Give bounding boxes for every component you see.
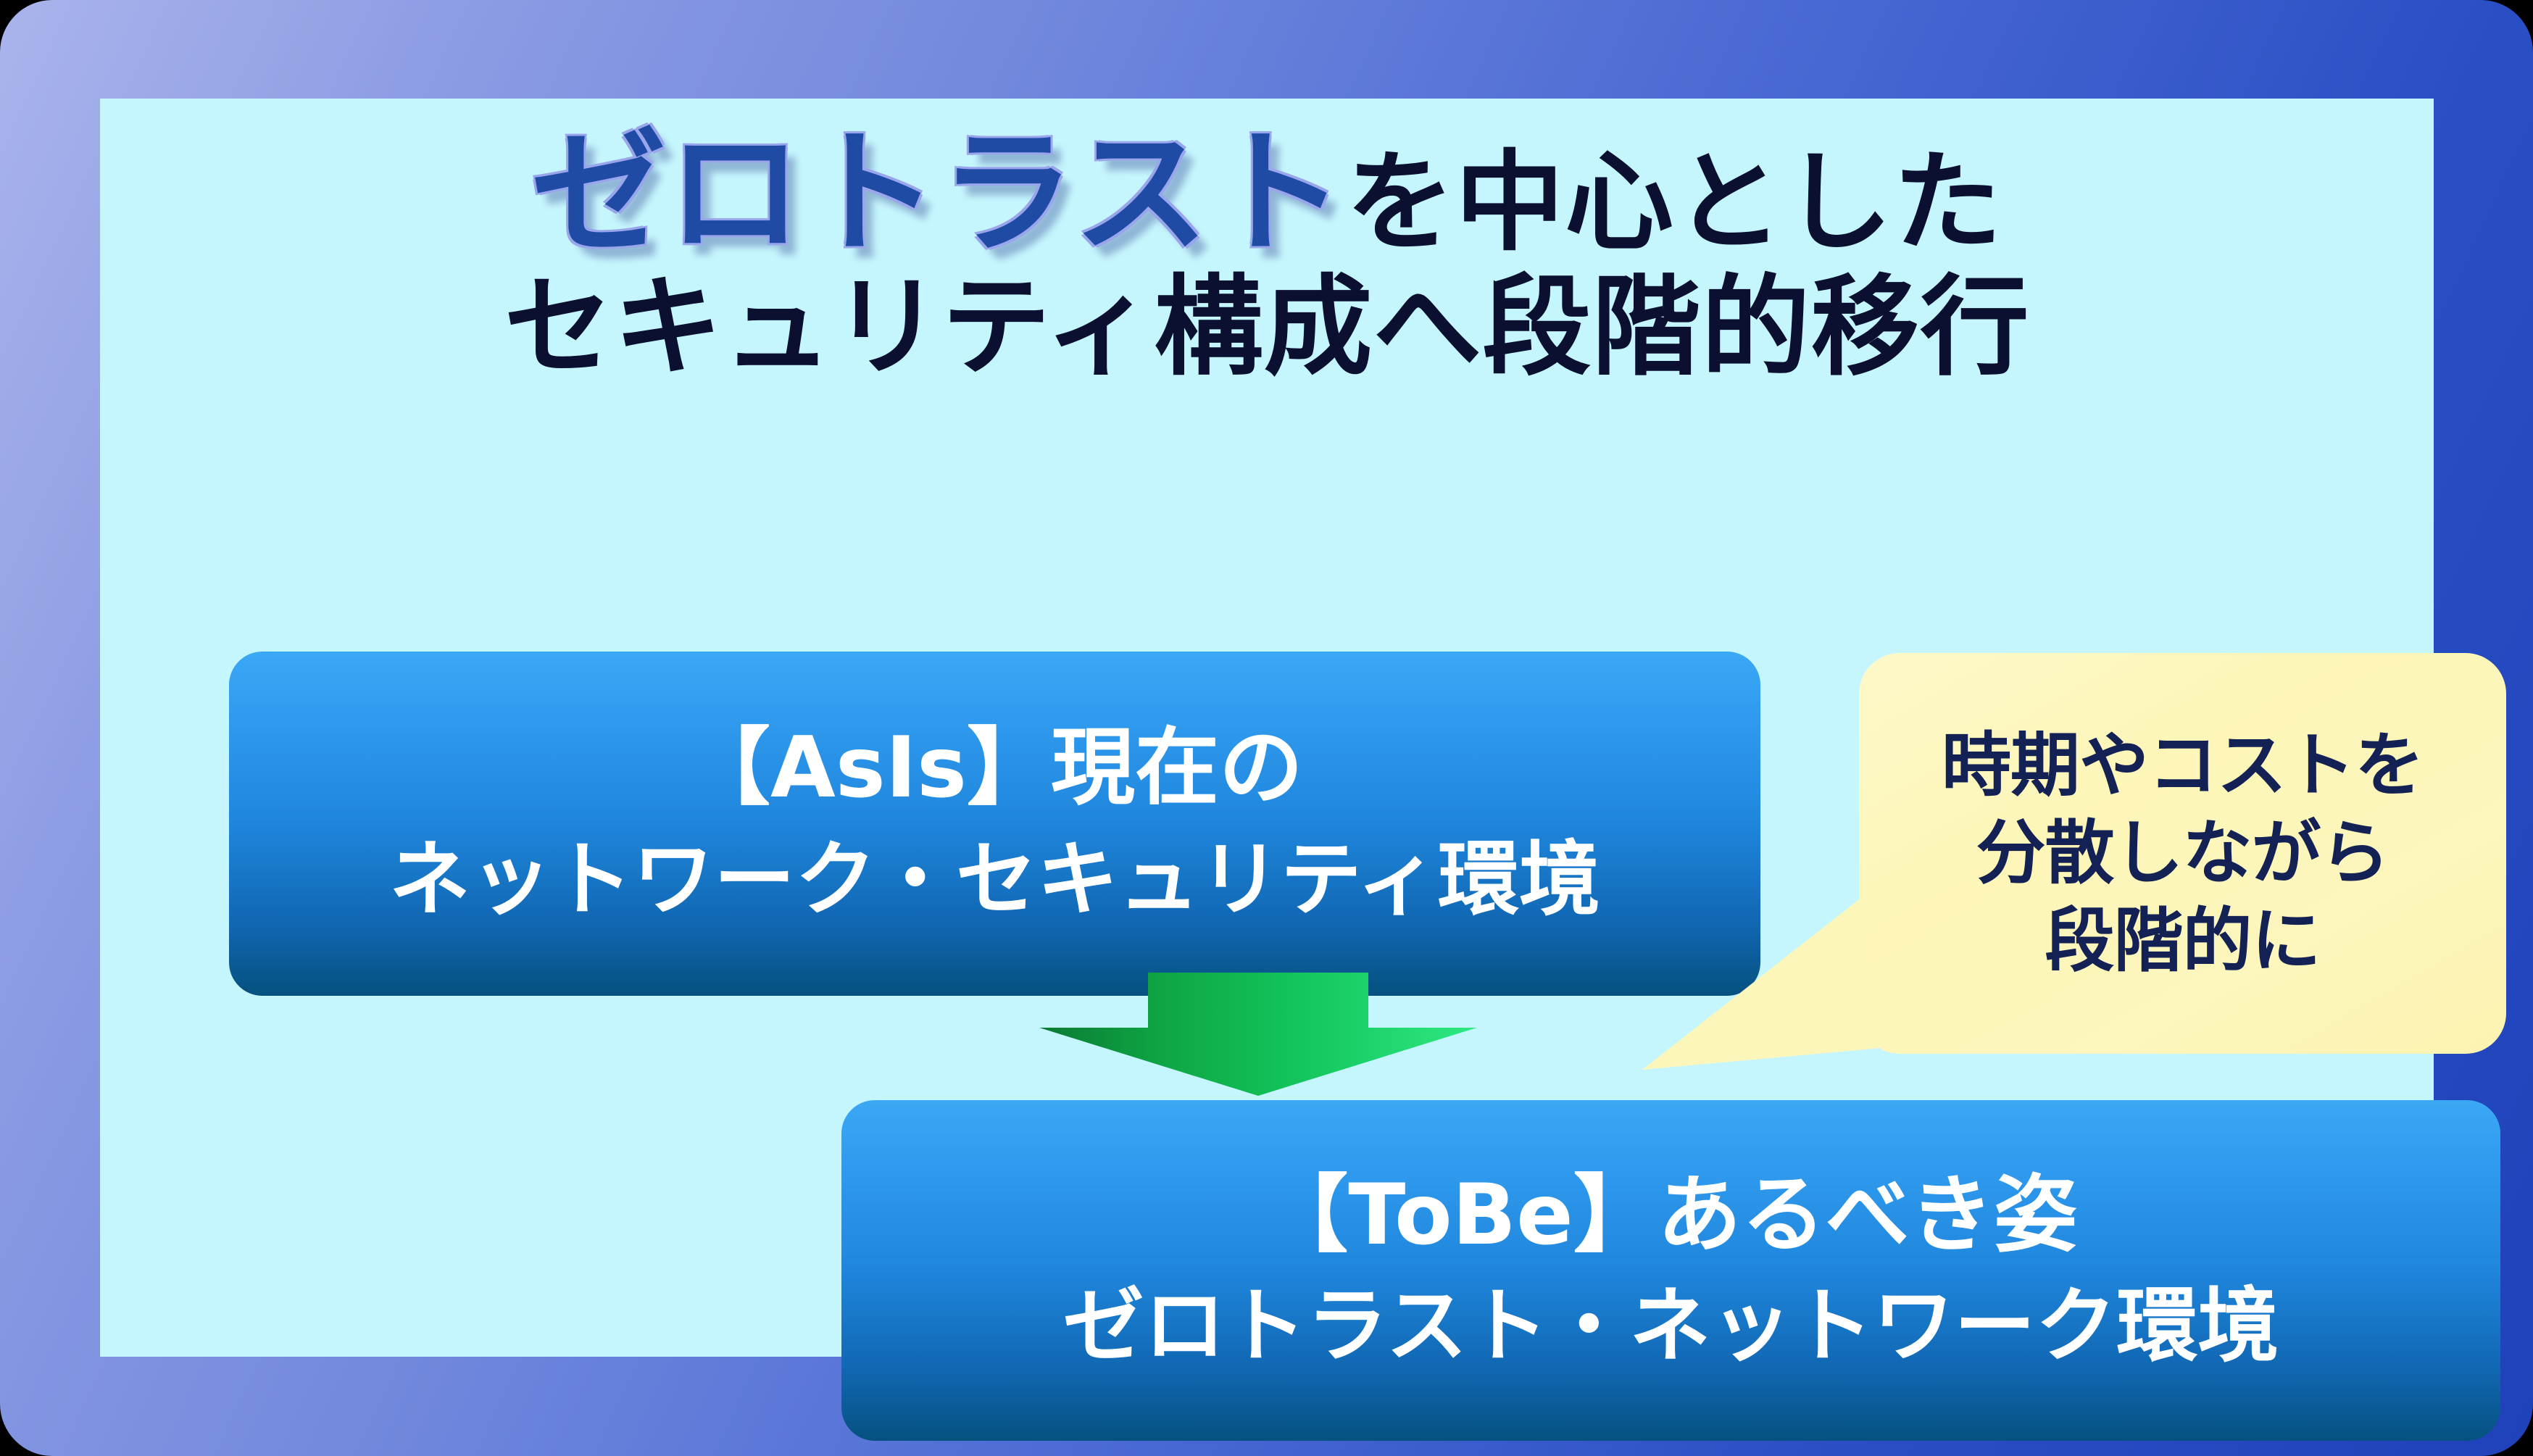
callout-line-3: 段階的に (2045, 897, 2321, 985)
title-rest-text: を中心とした (1346, 140, 2002, 266)
as-is-line-1: 【AsIs】現在の (686, 720, 1303, 818)
as-is-box[interactable]: 【AsIs】現在の ネットワーク・セキュリティ環境 (229, 652, 1760, 996)
callout-box[interactable]: 時期やコストを 分散しながら 段階的に (1859, 653, 2506, 1054)
to-be-line-1: 【ToBe】あるべき姿 (1264, 1167, 2078, 1265)
to-be-line-2: ゼロトラスト・ネットワーク環境 (1063, 1280, 2279, 1374)
title-line-2: セキュリティ構成へ段階的移行 (100, 273, 2434, 383)
slide-inner-panel: ゼロトラストを中心とした セキュリティ構成へ段階的移行 【AsIs】現在の ネッ… (100, 99, 2434, 1357)
callout-body: 時期やコストを 分散しながら 段階的に (1859, 653, 2506, 1054)
to-be-box[interactable]: 【ToBe】あるべき姿 ゼロトラスト・ネットワーク環境 (841, 1100, 2500, 1441)
down-arrow-icon (1039, 973, 1477, 1096)
callout-line-2: 分散しながら (1976, 810, 2389, 897)
as-is-line-2: ネットワーク・セキュリティ環境 (389, 833, 1600, 928)
slide-frame: ゼロトラストを中心とした セキュリティ構成へ段階的移行 【AsIs】現在の ネッ… (0, 0, 2533, 1456)
arrow-shape (1039, 973, 1477, 1096)
callout-line-1: 時期やコストを (1942, 722, 2424, 810)
title-accent-text: ゼロトラスト (531, 115, 1346, 272)
title-subline-text: セキュリティ構成へ段階的移行 (504, 265, 2029, 391)
title-line-1: ゼロトラストを中心とした (100, 125, 2434, 262)
page-title: ゼロトラストを中心とした セキュリティ構成へ段階的移行 (100, 125, 2434, 383)
